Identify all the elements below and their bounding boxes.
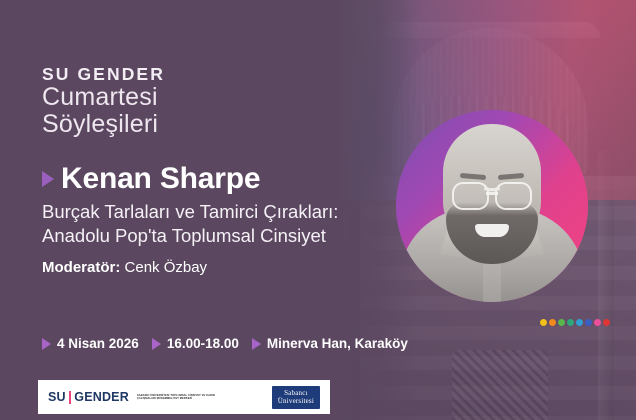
triangle-bullet-icon <box>152 338 161 350</box>
color-dot-7 <box>603 319 610 326</box>
sabanci-logo-line1: Sabancı <box>278 389 314 397</box>
su-gender-logo-su: SU <box>48 390 66 404</box>
su-gender-tagline: SABANCI ÜNİVERSİTESİ TOPLUMSAL CİNSİYET … <box>137 394 233 401</box>
color-dot-2 <box>558 319 565 326</box>
event-date: 4 Nisan 2026 <box>42 336 139 351</box>
portrait-figure <box>396 110 588 302</box>
footer-logo-bar: SU GENDER SABANCI ÜNİVERSİTESİ TOPLUMSAL… <box>38 380 330 414</box>
su-gender-logo-gender: GENDER <box>74 390 129 404</box>
talk-title-line1: Burçak Tarlaları ve Tamirci Çırakları: <box>42 200 338 224</box>
triangle-bullet-icon <box>42 171 54 187</box>
event-time: 16.00-18.00 <box>152 336 239 351</box>
color-dots-decoration <box>540 319 610 326</box>
poster-content: SU GENDER Cumartesi Söyleşileri Kenan Sh… <box>42 0 422 420</box>
moderator-label: Moderatör: <box>42 259 120 276</box>
speaker-row: Kenan Sharpe <box>42 162 260 196</box>
color-dot-0 <box>540 319 547 326</box>
color-dot-1 <box>549 319 556 326</box>
event-time-text: 16.00-18.00 <box>167 336 239 351</box>
glasses-bridge-icon <box>486 192 498 195</box>
sabanci-logo-line2: Üniversitesi <box>278 397 314 405</box>
portrait-smile <box>475 224 509 237</box>
glasses-lens-left-icon <box>495 182 532 210</box>
talk-title-line2: Anadolu Pop'ta Toplumsal Cinsiyet <box>42 224 338 248</box>
color-dot-4 <box>576 319 583 326</box>
color-dot-3 <box>567 319 574 326</box>
series-title: Cumartesi Söyleşileri <box>42 84 158 138</box>
event-date-text: 4 Nisan 2026 <box>57 336 139 351</box>
series-title-line1: Cumartesi <box>42 84 158 111</box>
triangle-bullet-icon <box>42 338 51 350</box>
event-venue-text: Minerva Han, Karaköy <box>267 336 408 351</box>
speaker-name: Kenan Sharpe <box>61 162 260 196</box>
talk-title: Burçak Tarlaları ve Tamirci Çırakları: A… <box>42 200 338 248</box>
portrait-head <box>443 124 541 244</box>
portrait-brow-left <box>498 173 524 180</box>
color-dot-5 <box>585 319 592 326</box>
color-dot-6 <box>594 319 601 326</box>
moderator-name: Cenk Özbay <box>125 259 208 276</box>
event-info-row: 4 Nisan 2026 16.00-18.00 Minerva Han, Ka… <box>42 336 408 351</box>
event-poster: SU GENDER Cumartesi Söyleşileri Kenan Sh… <box>0 0 636 420</box>
triangle-bullet-icon <box>252 338 261 350</box>
organization-name: SU GENDER <box>42 64 165 85</box>
moderator: Moderatör: Cenk Özbay <box>42 259 207 276</box>
speaker-portrait <box>396 110 588 302</box>
series-title-line2: Söyleşileri <box>42 111 158 138</box>
su-gender-logo: SU GENDER <box>48 390 129 404</box>
portrait-brow-right <box>460 173 486 180</box>
event-venue: Minerva Han, Karaköy <box>252 336 408 351</box>
sabanci-university-logo: Sabancı Üniversitesi <box>272 386 320 409</box>
su-gender-logo-divider <box>69 391 72 404</box>
